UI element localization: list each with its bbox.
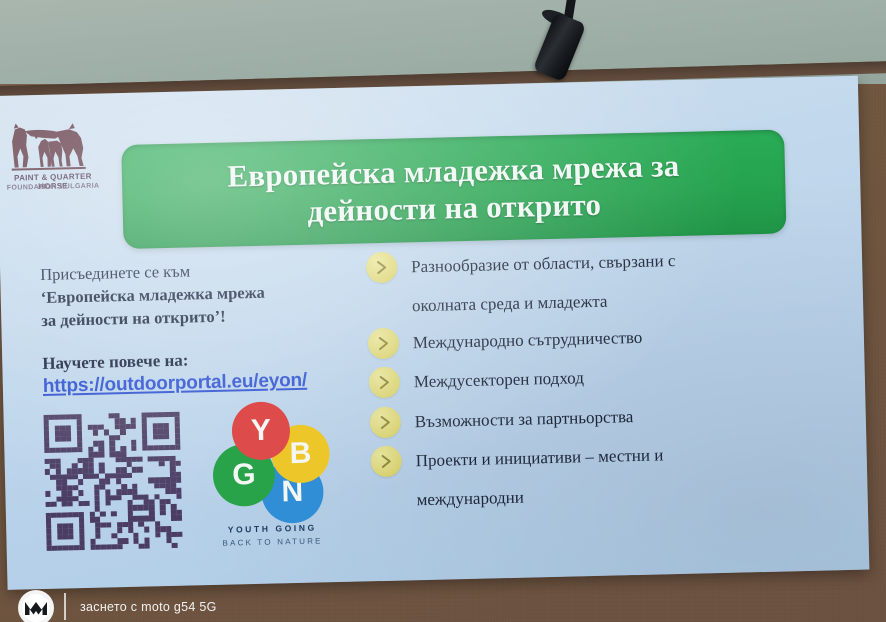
camera-watermark: заснето с moto g54 5G	[18, 591, 438, 622]
projection-screen: PAINT & QUARTER HORSE FOUNDATION BULGARI…	[0, 76, 869, 590]
learn-more-label: Научете повече на:	[42, 347, 360, 374]
slide-title: Европейска младежка мрежа за дейности на…	[209, 146, 699, 232]
list-item: Разнообразие от области, свързани с	[366, 240, 837, 284]
list-item-label: Възможности за партньорства	[414, 400, 633, 438]
ygn-tagline-1: YOUTH GOING	[212, 522, 332, 535]
chevron-right-icon	[369, 367, 401, 399]
ygn-logo: N G B Y YOUTH GOING BACK TO NATURE	[209, 398, 333, 551]
chevron-right-icon	[366, 252, 398, 284]
list-item: Междусекторен подход	[368, 356, 839, 400]
qr-code[interactable]	[44, 412, 183, 551]
motorola-logo-icon	[18, 590, 54, 622]
chevron-right-icon	[368, 328, 400, 360]
chevron-right-icon	[369, 406, 401, 438]
join-invitation: Присъединете се към ‘Европейска младежка…	[40, 256, 360, 333]
watermark-divider	[64, 593, 66, 620]
slide-title-line2: дейности на открито	[307, 187, 602, 229]
qr-code-grid	[44, 412, 183, 551]
left-text-column: Присъединете се към ‘Европейска младежка…	[40, 256, 361, 399]
list-item-continuation: международни	[416, 473, 842, 516]
ygn-tagline-2: BACK TO NATURE	[212, 536, 332, 548]
chevron-right-icon	[370, 445, 402, 477]
horse-logo-line2: FOUNDATION BULGARIA	[6, 183, 100, 192]
slide-title-line1: Европейска младежка мрежа за	[227, 148, 680, 194]
watermark-text: заснето с moto g54 5G	[80, 600, 217, 614]
list-item-label: Проекти и инициативи – местни и	[415, 438, 663, 477]
list-item-label: Разнообразие от области, свързани с	[411, 244, 676, 283]
presentation-slide: PAINT & QUARTER HORSE FOUNDATION BULGARI…	[0, 76, 869, 590]
list-item: Проекти и инициативи – местни и	[370, 434, 841, 478]
outdoor-portal-link[interactable]: https://outdoorportal.eu/eyon/	[43, 370, 308, 398]
bullet-list: Разнообразие от области, свързани с окол…	[366, 240, 842, 517]
list-item-label: Междусекторен подход	[413, 362, 584, 399]
photo-scene: PAINT & QUARTER HORSE FOUNDATION BULGARI…	[0, 0, 886, 622]
list-item-label: Международно сътрудничество	[413, 321, 643, 360]
horse-foundation-logo: PAINT & QUARTER HORSE FOUNDATION BULGARI…	[3, 122, 101, 202]
list-item: Възможности за партньорства	[369, 395, 840, 439]
slide-title-banner: Европейска младежка мрежа за дейности на…	[121, 129, 786, 249]
